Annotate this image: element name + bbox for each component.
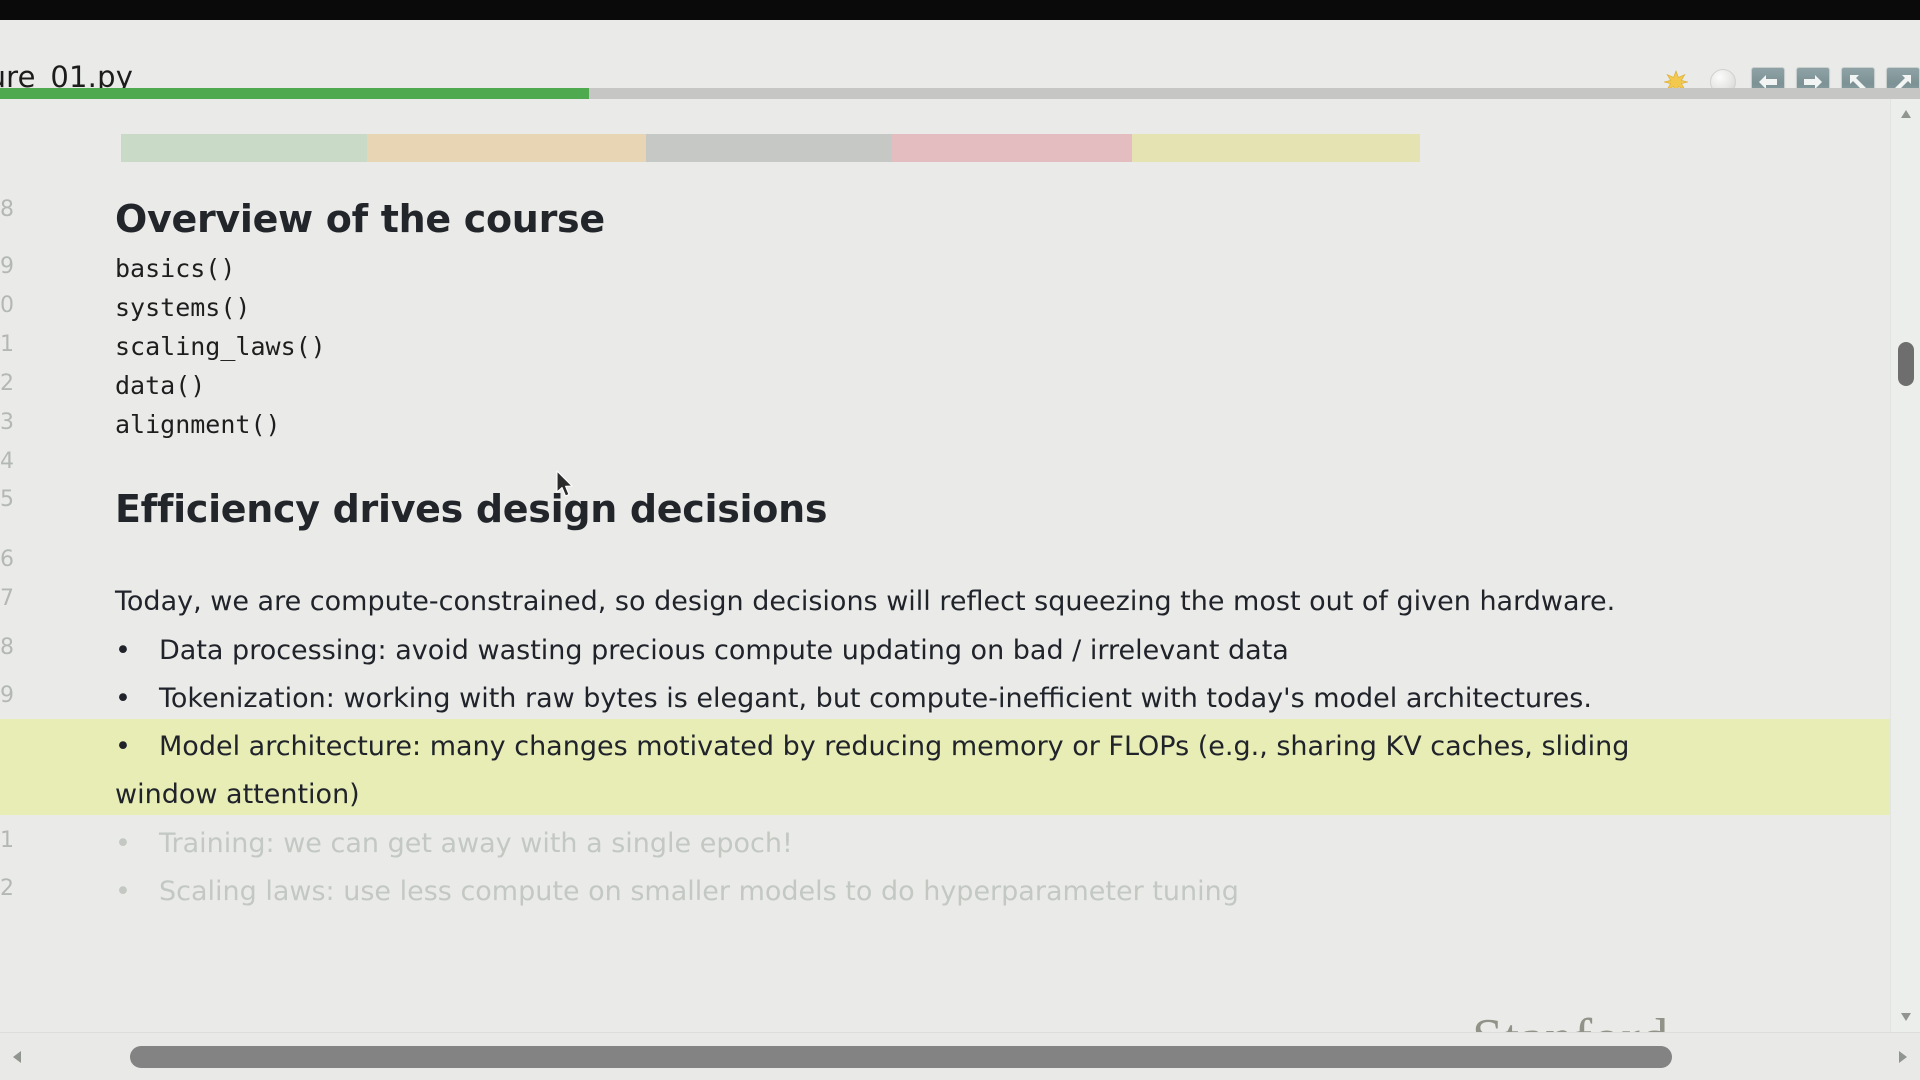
bullet-item: •Tokenization: working with raw bytes is… [115, 683, 1592, 714]
vertical-scroll-thumb[interactable] [1898, 342, 1914, 386]
title-bar: ture_01.py [0, 20, 1920, 90]
editor-canvas[interactable]: 181920212223242526272829303132 Overview … [0, 99, 1920, 1032]
bullet-text: Model architecture: many changes motivat… [159, 731, 1629, 762]
bullet-dot-icon: • [115, 637, 159, 664]
bullet-item: •Scaling laws: use less compute on small… [115, 876, 1239, 907]
bullet-text-wrapped: window attention) [115, 779, 360, 810]
bullet-text: Data processing: avoid wasting precious … [159, 635, 1289, 666]
bullet-dot-icon: • [115, 878, 159, 905]
paragraph-text: Today, we are compute-constrained, so de… [115, 586, 1615, 617]
bullet-dot-icon: • [115, 830, 159, 857]
section-heading: Efficiency drives design decisions [115, 487, 827, 531]
progress-bar-fill [0, 88, 589, 99]
scroll-down-arrow-icon[interactable] [1891, 1004, 1920, 1030]
horizontal-scroll-thumb[interactable] [130, 1046, 1672, 1068]
horizontal-scrollbar[interactable] [0, 1032, 1920, 1080]
bullet-text: Training: we can get away with a single … [159, 828, 793, 859]
code-call[interactable]: scaling_laws() [115, 332, 326, 361]
code-call[interactable]: alignment() [115, 410, 281, 439]
bullet-dot-icon: • [115, 685, 159, 712]
code-call[interactable]: systems() [115, 293, 250, 322]
application-window: ture_01.py [0, 0, 1920, 1080]
scroll-right-arrow-icon[interactable] [1890, 1044, 1916, 1070]
scroll-left-arrow-icon[interactable] [4, 1044, 30, 1070]
scroll-up-arrow-icon[interactable] [1891, 101, 1920, 127]
screen-top-bezel [0, 0, 1920, 20]
vertical-scrollbar[interactable] [1890, 99, 1920, 1032]
progress-bar-track[interactable] [0, 88, 1920, 99]
bullet-dot-icon: • [115, 733, 159, 760]
bullet-item: •Training: we can get away with a single… [115, 828, 793, 859]
bullet-item: •Data processing: avoid wasting precious… [115, 635, 1289, 666]
code-call[interactable]: basics() [115, 254, 235, 283]
slide-content: Overview of the coursebasics()systems()s… [0, 99, 1920, 1032]
bullet-item: •Model architecture: many changes motiva… [115, 731, 1629, 762]
code-call[interactable]: data() [115, 371, 205, 400]
bullet-text: Tokenization: working with raw bytes is … [159, 683, 1592, 714]
bullet-text: Scaling laws: use less compute on smalle… [159, 876, 1239, 907]
stanford-watermark: Stanford [1472, 1007, 1669, 1032]
section-heading: Overview of the course [115, 197, 605, 241]
